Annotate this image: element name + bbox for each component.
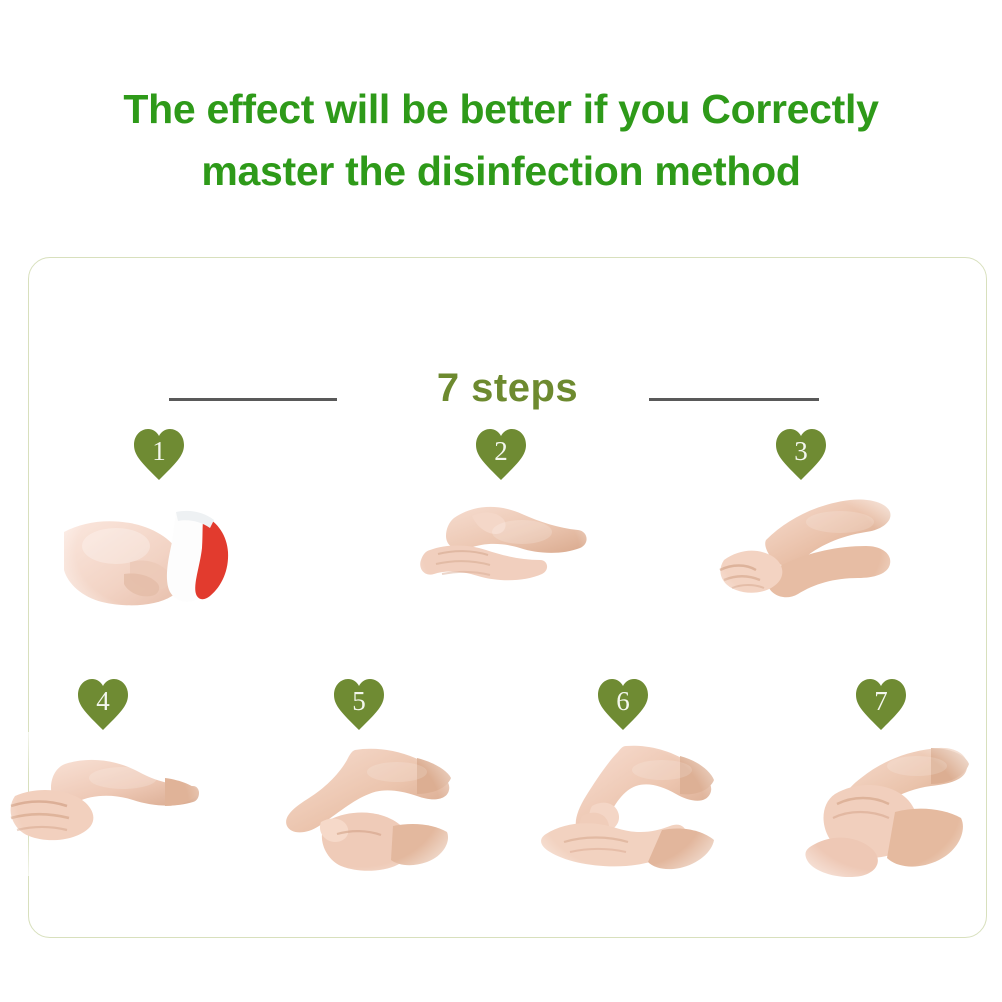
hand-with-soap-dispenser-icon: [64, 488, 254, 616]
fingertips-in-palm-icon: [530, 738, 716, 876]
step-number-4: 4: [75, 676, 131, 726]
step-badge-2: 2: [473, 426, 529, 482]
step-number-5: 5: [331, 676, 387, 726]
section-header: 7 steps: [29, 316, 986, 376]
step-badge-7: 7: [853, 676, 909, 732]
wrist-rub-icon: [791, 738, 971, 878]
step-badge-3: 3: [773, 426, 829, 482]
steps-row-2: 4: [29, 676, 986, 916]
step-badge-5: 5: [331, 676, 387, 732]
page-title: The effect will be better if you Correct…: [0, 78, 1002, 202]
page-title-line-2: master the disinfection method: [0, 140, 1002, 202]
thumb-rotational-rub-icon: [267, 738, 451, 874]
interlaced-fingers-icon: [710, 488, 892, 614]
steps-card: 7 steps 1: [28, 257, 987, 938]
step-number-3: 3: [773, 426, 829, 476]
section-title: 7 steps: [29, 366, 986, 411]
steps-row-1: 1: [29, 426, 986, 646]
step-badge-6: 6: [595, 676, 651, 732]
back-of-fingers-rub-icon: [5, 738, 201, 870]
palm-to-palm-rub-icon: [412, 488, 590, 614]
step-badge-4: 4: [75, 676, 131, 732]
page-title-line-1: The effect will be better if you Correct…: [0, 78, 1002, 140]
step-number-7: 7: [853, 676, 909, 726]
step-number-2: 2: [473, 426, 529, 476]
step-badge-1: 1: [131, 426, 187, 482]
step-number-6: 6: [595, 676, 651, 726]
step-number-1: 1: [131, 426, 187, 476]
